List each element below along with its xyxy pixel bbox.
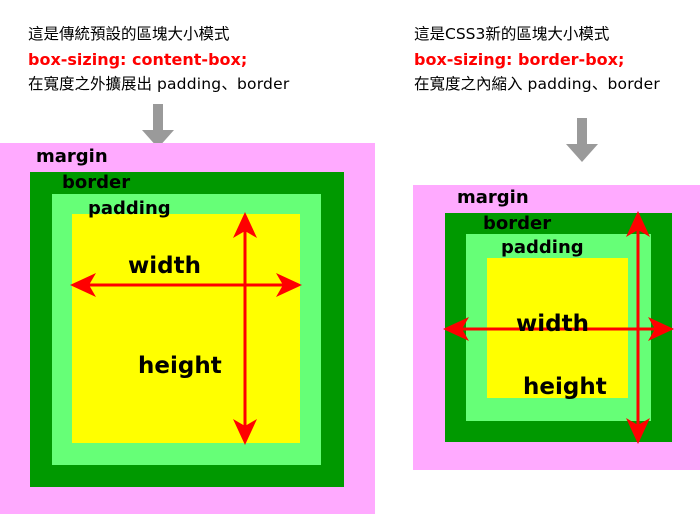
height-label: height — [523, 376, 607, 399]
arrow-down-icon — [141, 104, 175, 148]
caption-left-line1: 這是傳統預設的區塊大小模式 — [28, 22, 289, 47]
box-model-border-box: margin border padding width height — [413, 185, 700, 470]
diagram-canvas: 這是傳統預設的區塊大小模式 box-sizing: content-box; 在… — [0, 0, 700, 514]
dimension-arrows — [0, 143, 375, 514]
box-model-content-box: margin border padding width height — [0, 143, 375, 514]
width-label: width — [516, 313, 589, 336]
caption-right-line3: 在寬度之內縮入 padding、border — [414, 72, 660, 97]
width-label: width — [128, 255, 201, 278]
caption-left-line3: 在寬度之外擴展出 padding、border — [28, 72, 289, 97]
caption-content-box: 這是傳統預設的區塊大小模式 box-sizing: content-box; 在… — [28, 22, 289, 97]
caption-right-line3-ascii: padding、border — [527, 75, 659, 93]
caption-right-code: box-sizing: border-box; — [414, 47, 660, 72]
caption-left-line3-cjk: 在寬度之外擴展出 — [28, 75, 157, 93]
arrow-down-icon — [565, 118, 599, 162]
caption-border-box: 這是CSS3新的區塊大小模式 box-sizing: border-box; 在… — [414, 22, 660, 97]
caption-right-line3-cjk: 在寬度之內縮入 — [414, 75, 527, 93]
height-label: height — [138, 355, 222, 378]
caption-left-code: box-sizing: content-box; — [28, 47, 289, 72]
caption-left-line3-ascii: padding、border — [157, 75, 289, 93]
caption-right-line1: 這是CSS3新的區塊大小模式 — [414, 22, 660, 47]
